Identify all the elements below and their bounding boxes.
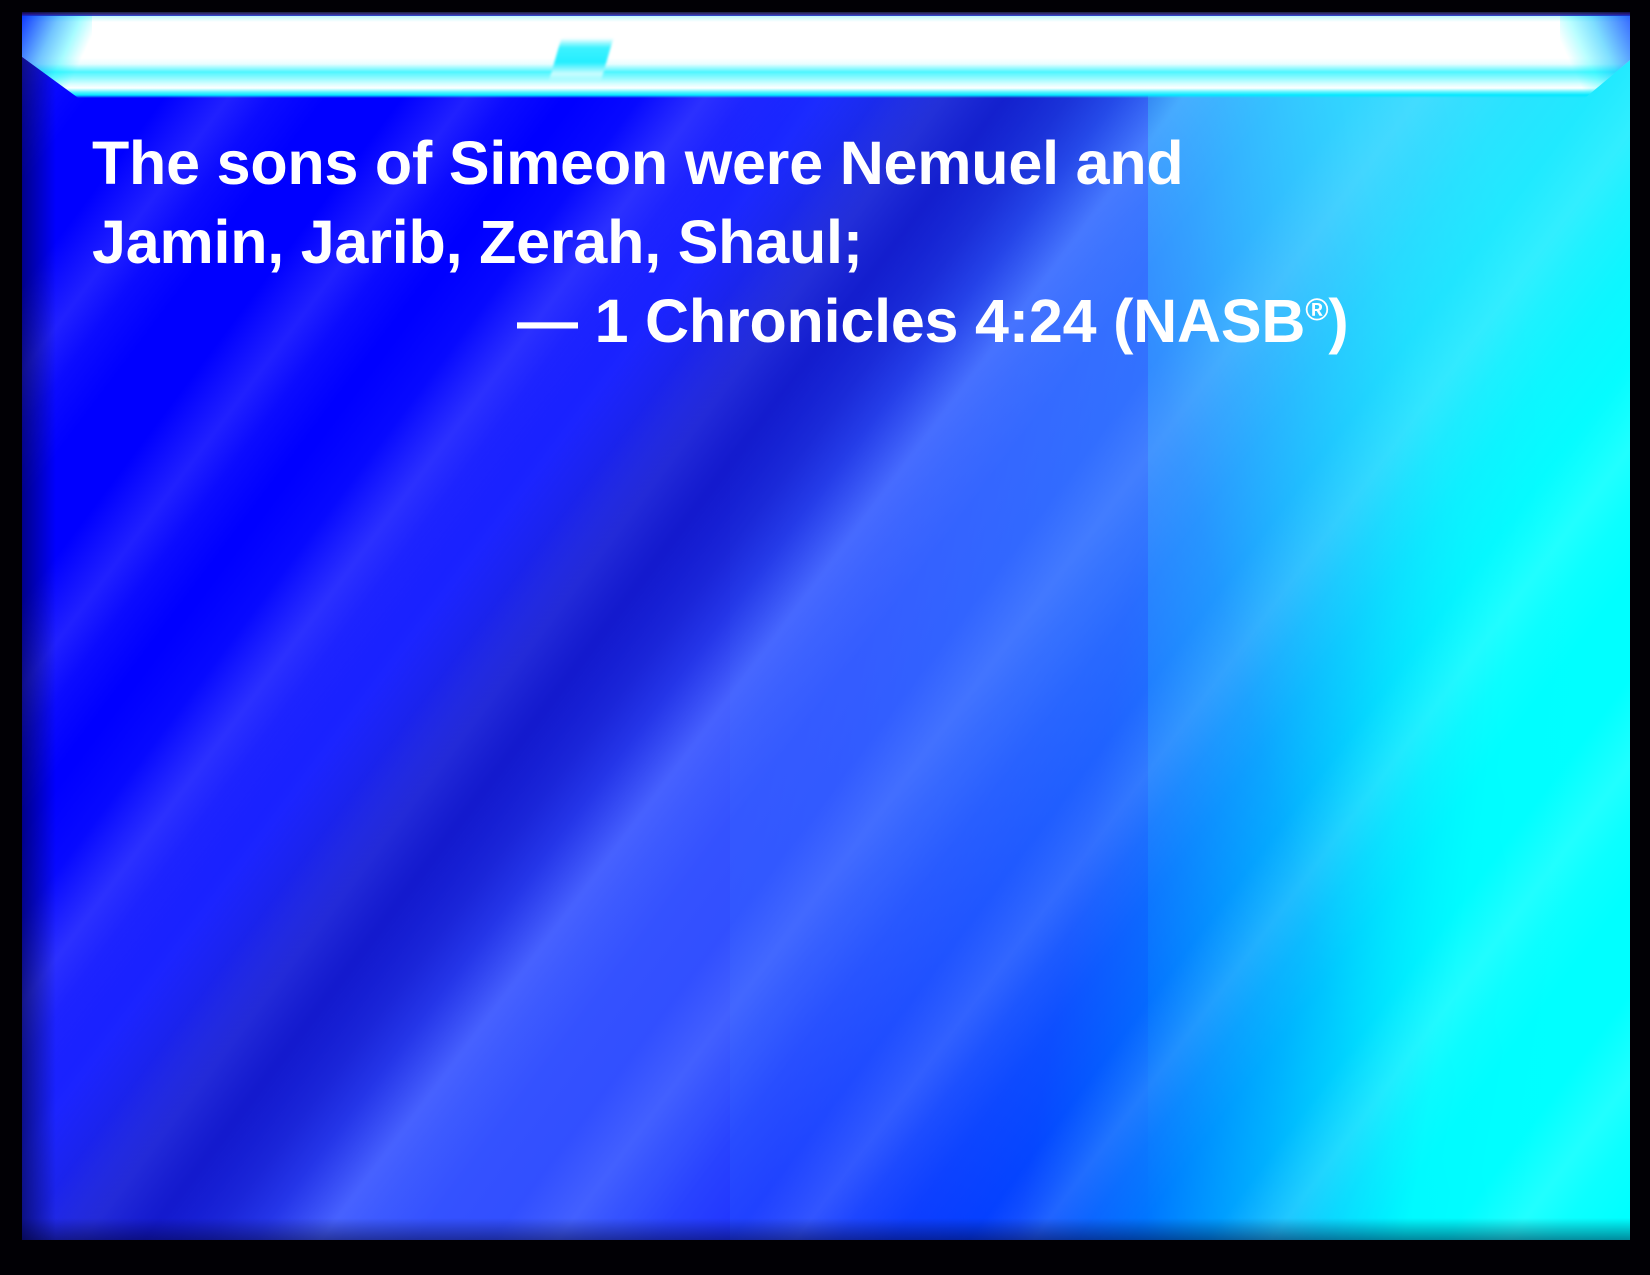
cyan-notch-icon [549,38,614,82]
verse-line-2: Jamin, Jarib, Zerah, Shaul; [92,203,1602,282]
top-seam-divider [22,12,1630,16]
slide-canvas: The sons of Simeon were Nemuel and Jamin… [22,12,1630,1240]
verse-line-1: The sons of Simeon were Nemuel and [92,124,1602,203]
citation-closing-paren: ) [1328,287,1348,355]
top-highlight-bar [22,12,1630,98]
slide-frame: The sons of Simeon were Nemuel and Jamin… [0,0,1650,1275]
verse-text-block: The sons of Simeon were Nemuel and Jamin… [92,124,1602,361]
citation-em-dash: — [517,287,595,355]
registered-trademark-icon: ® [1305,292,1328,328]
verse-citation: — 1 Chronicles 4:24 (NASB®) [92,282,1602,361]
citation-reference: 1 Chronicles 4:24 (NASB [595,287,1306,355]
